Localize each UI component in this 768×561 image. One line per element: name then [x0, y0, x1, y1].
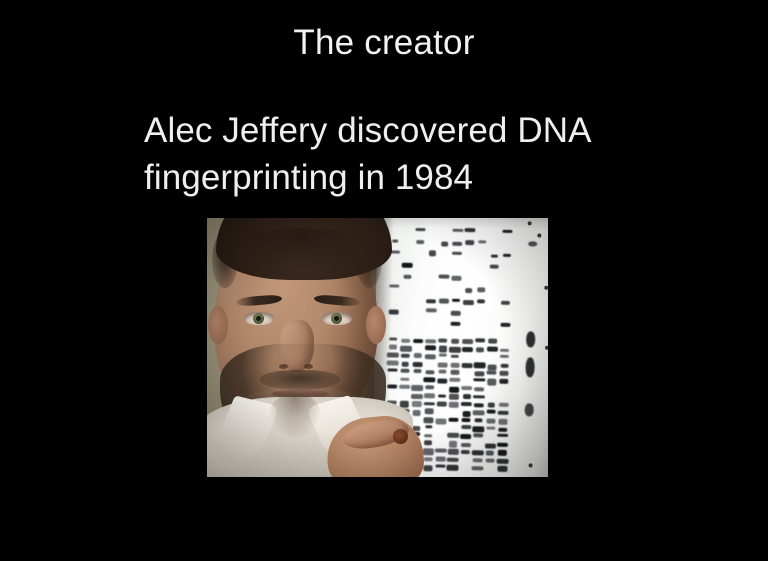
dna-band [439, 346, 447, 352]
ear-right [366, 306, 386, 344]
dna-band [498, 449, 507, 455]
dna-band [478, 240, 486, 244]
dna-band [451, 321, 461, 326]
moustache [260, 370, 340, 390]
ear-left [208, 306, 228, 344]
eyebrow-left [236, 294, 283, 307]
dna-band [392, 240, 399, 243]
dna-band [438, 370, 446, 374]
dna-band [472, 427, 484, 432]
dna-band [389, 284, 400, 288]
dna-band [498, 410, 509, 415]
dna-band [462, 347, 474, 352]
dna-band [462, 363, 473, 368]
dna-band [439, 274, 450, 278]
dna-band [486, 451, 494, 455]
dna-band [387, 352, 399, 357]
dna-band [497, 459, 509, 464]
dna-band [389, 309, 400, 314]
dna-band [442, 242, 449, 247]
dna-band [389, 337, 397, 340]
dna-band [413, 362, 423, 367]
sheet-speck [545, 346, 548, 350]
dna-band [437, 362, 448, 367]
dna-band [399, 345, 411, 351]
dna-band [451, 339, 459, 344]
dna-band [465, 228, 475, 232]
eye-right [322, 312, 352, 325]
dna-band [474, 403, 484, 408]
dna-band [449, 347, 461, 353]
dna-band [447, 449, 458, 455]
sheet-speck [544, 286, 548, 290]
dna-band [472, 466, 483, 471]
dna-band [462, 339, 473, 344]
dna-band [424, 441, 432, 446]
dna-band [388, 385, 398, 389]
dna-band [450, 370, 459, 375]
dna-band [424, 418, 434, 424]
dna-band [425, 339, 436, 344]
dna-marker-spot [526, 331, 535, 347]
dna-band [487, 402, 495, 407]
dna-band [499, 402, 509, 406]
dna-band [487, 370, 497, 374]
dna-band [466, 240, 475, 245]
dna-band [417, 240, 424, 244]
dna-band [400, 384, 410, 388]
dna-band [387, 360, 399, 365]
dna-marker-spot [528, 241, 537, 246]
dna-band [451, 311, 461, 316]
dna-band [388, 368, 398, 371]
sheet-speck [528, 221, 532, 225]
dna-band [449, 378, 460, 382]
sheet-speck [537, 234, 541, 238]
dna-band [486, 410, 496, 414]
dna-band [461, 450, 470, 454]
dna-band [473, 395, 485, 399]
dna-band [415, 228, 426, 232]
dna-band [461, 418, 471, 422]
slide-body-text: Alec Jeffery discovered DNA fingerprinti… [144, 107, 664, 201]
dna-band [449, 394, 460, 400]
dna-band [424, 377, 436, 383]
dna-band [499, 427, 508, 431]
dna-band [412, 400, 422, 407]
sheet-speck [529, 463, 533, 467]
dna-band [476, 348, 484, 353]
dna-band [461, 442, 471, 447]
dna-marker-spot [525, 357, 534, 377]
dna-band [502, 229, 512, 232]
dna-band [486, 458, 494, 463]
dna-band [491, 254, 498, 258]
dna-band [447, 465, 459, 471]
dna-band [500, 379, 509, 384]
dna-band [437, 394, 446, 398]
dna-band [400, 369, 409, 373]
dna-marker-lane [523, 239, 539, 445]
dna-band [461, 425, 471, 429]
dna-band [411, 394, 422, 399]
dna-band [472, 451, 484, 456]
dna-band [413, 339, 424, 343]
dna-band [452, 229, 463, 233]
dna-band [447, 458, 458, 462]
dna-band [465, 288, 473, 293]
dna-band [437, 378, 447, 384]
dna-band [435, 456, 445, 461]
dna-band [463, 300, 474, 306]
dna-band [438, 354, 447, 357]
dna-band [451, 354, 459, 357]
dna-band [452, 242, 462, 246]
page-title: The creator [0, 22, 768, 64]
dna-band [413, 369, 421, 373]
dna-band [425, 434, 433, 437]
dna-band [426, 370, 435, 375]
dna-band [435, 448, 447, 453]
dna-band [414, 353, 422, 358]
dna-band [500, 355, 509, 358]
dna-band [473, 378, 485, 381]
dna-band [436, 418, 447, 424]
dna-band [425, 385, 434, 389]
dna-band [473, 434, 483, 438]
dna-band [474, 419, 482, 422]
dna-band [487, 379, 496, 385]
dna-band [423, 449, 434, 455]
dna-band [436, 464, 446, 468]
dna-band [497, 434, 508, 437]
dna-band [449, 387, 459, 393]
dna-band [451, 276, 462, 282]
dna-band [452, 299, 460, 303]
dna-band [424, 402, 434, 406]
dna-band [425, 425, 433, 429]
dna-band [474, 363, 486, 368]
dna-band [425, 355, 435, 360]
dna-band [423, 465, 432, 471]
dna-band [473, 411, 484, 416]
dna-band [424, 393, 434, 398]
dna-band [501, 301, 510, 305]
dna-band [497, 443, 508, 447]
dna-band [429, 250, 436, 256]
dna-band [485, 443, 496, 449]
dna-band [474, 387, 483, 392]
dna-band [486, 419, 496, 425]
dna-band [403, 274, 411, 279]
presentation-slide: The creator Alec Jeffery discovered DNA … [0, 0, 768, 561]
hair [216, 218, 392, 280]
dna-band [401, 361, 409, 367]
photo-alec-jeffery [207, 218, 548, 477]
dna-band [437, 402, 447, 406]
dna-band [500, 371, 509, 376]
dna-band [402, 263, 413, 268]
dna-band [438, 298, 449, 304]
dna-band [475, 338, 486, 342]
dna-band [449, 441, 457, 447]
dna-band [449, 401, 459, 407]
dna-band [477, 299, 485, 303]
dna-band [460, 434, 471, 440]
dna-band [486, 427, 495, 430]
dna-band [401, 354, 410, 358]
dna-band [425, 345, 436, 350]
dna-band [503, 254, 511, 257]
dna-band [447, 433, 459, 438]
dna-band [426, 299, 436, 304]
dna-band [461, 402, 472, 406]
dna-band [500, 323, 510, 327]
dna-band [411, 385, 423, 391]
dna-band [475, 371, 485, 376]
dna-band [477, 287, 486, 292]
dna-band [473, 458, 482, 463]
dna-band [426, 308, 436, 313]
dna-band [452, 251, 463, 255]
collar-shadow [269, 393, 321, 437]
dna-band [413, 410, 421, 416]
dna-band [424, 408, 433, 414]
dna-band [487, 347, 498, 353]
dna-band [488, 339, 496, 344]
dna-band [500, 348, 509, 352]
dna-band [401, 339, 410, 343]
dna-band [499, 418, 508, 424]
dna-band [438, 339, 447, 343]
dna-band [462, 394, 470, 399]
dna-band [424, 457, 433, 461]
dna-band [461, 386, 473, 391]
dna-band [450, 363, 459, 368]
eyebrow-right [314, 294, 361, 307]
dna-band [500, 364, 508, 368]
dna-marker-spot [525, 403, 534, 416]
photo-content [207, 218, 548, 477]
dna-band [462, 411, 470, 417]
dna-band [389, 345, 397, 350]
dna-band [401, 377, 410, 380]
eye-left [244, 312, 274, 325]
dna-band [449, 418, 459, 422]
dna-band [497, 466, 507, 472]
dna-band [489, 265, 498, 269]
